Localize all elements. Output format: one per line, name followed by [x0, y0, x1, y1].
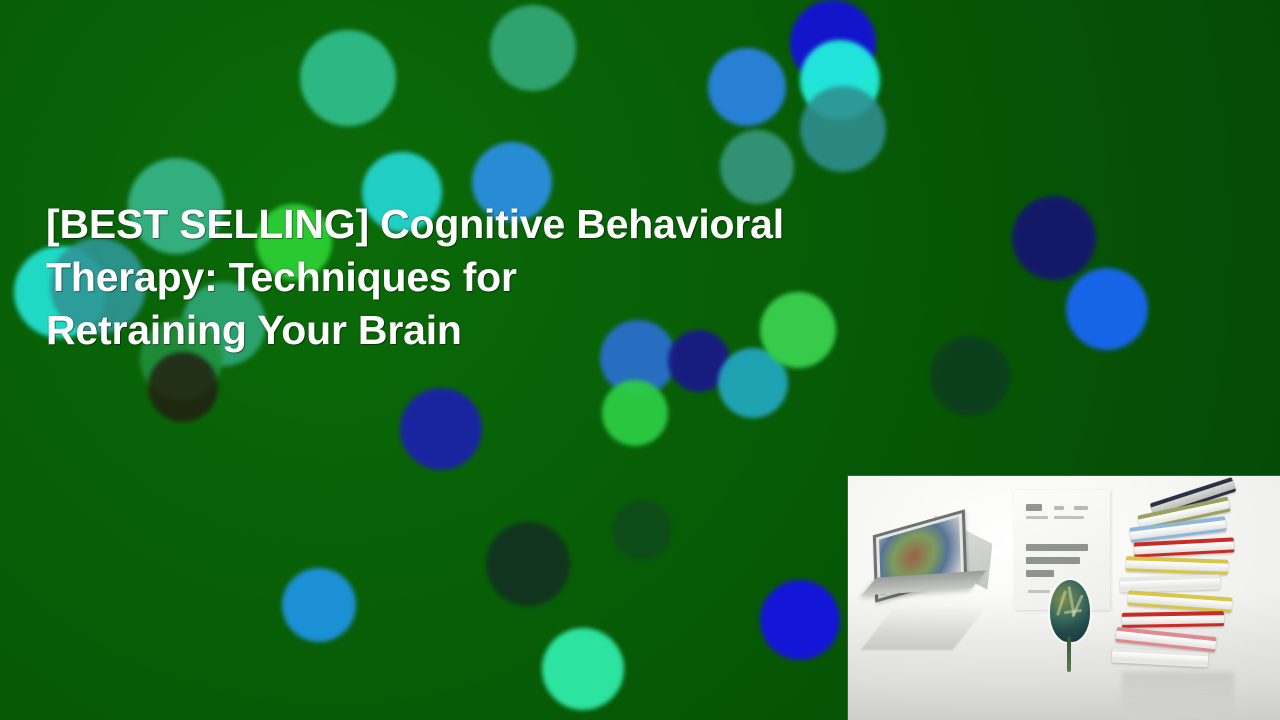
book-cover-panel[interactable] [848, 476, 1280, 720]
bokeh-black-2 [486, 522, 570, 606]
bokeh-teal-1 [300, 30, 396, 126]
bokeh-black-1 [148, 352, 218, 422]
bokeh-blue-3 [1066, 268, 1148, 350]
video-thumbnail: [BEST SELLING] Cognitive Behavioral Ther… [0, 0, 1280, 720]
book-stack-reflection [1122, 672, 1234, 712]
title-line-3: Retraining Your Brain [46, 304, 946, 357]
bokeh-teal-6 [720, 130, 794, 204]
book-stack [1104, 484, 1254, 684]
book-cover-image [848, 476, 1280, 720]
laptop-icon [870, 522, 998, 614]
bokeh-teal-2 [490, 5, 576, 91]
bokeh-teal-3 [800, 86, 886, 172]
bokeh-blue-light-1 [708, 48, 786, 126]
brain-tree-trunk [1067, 636, 1071, 672]
brain-tree-canopy [1050, 580, 1090, 642]
bokeh-blue-5 [282, 568, 356, 642]
bokeh-green-dark-3 [612, 500, 672, 560]
title-line-2: Therapy: Techniques for [46, 251, 946, 304]
bokeh-navy-1 [1012, 196, 1096, 280]
brain-tree-icon [1044, 580, 1094, 676]
thumbnail-title: [BEST SELLING] Cognitive Behavioral Ther… [46, 198, 946, 357]
bokeh-navy-3 [400, 388, 482, 470]
title-line-1: [BEST SELLING] Cognitive Behavioral [46, 198, 946, 251]
bokeh-mint-1 [542, 628, 624, 710]
bokeh-green-bright-2 [602, 380, 668, 446]
bokeh-blue-6 [760, 580, 840, 660]
